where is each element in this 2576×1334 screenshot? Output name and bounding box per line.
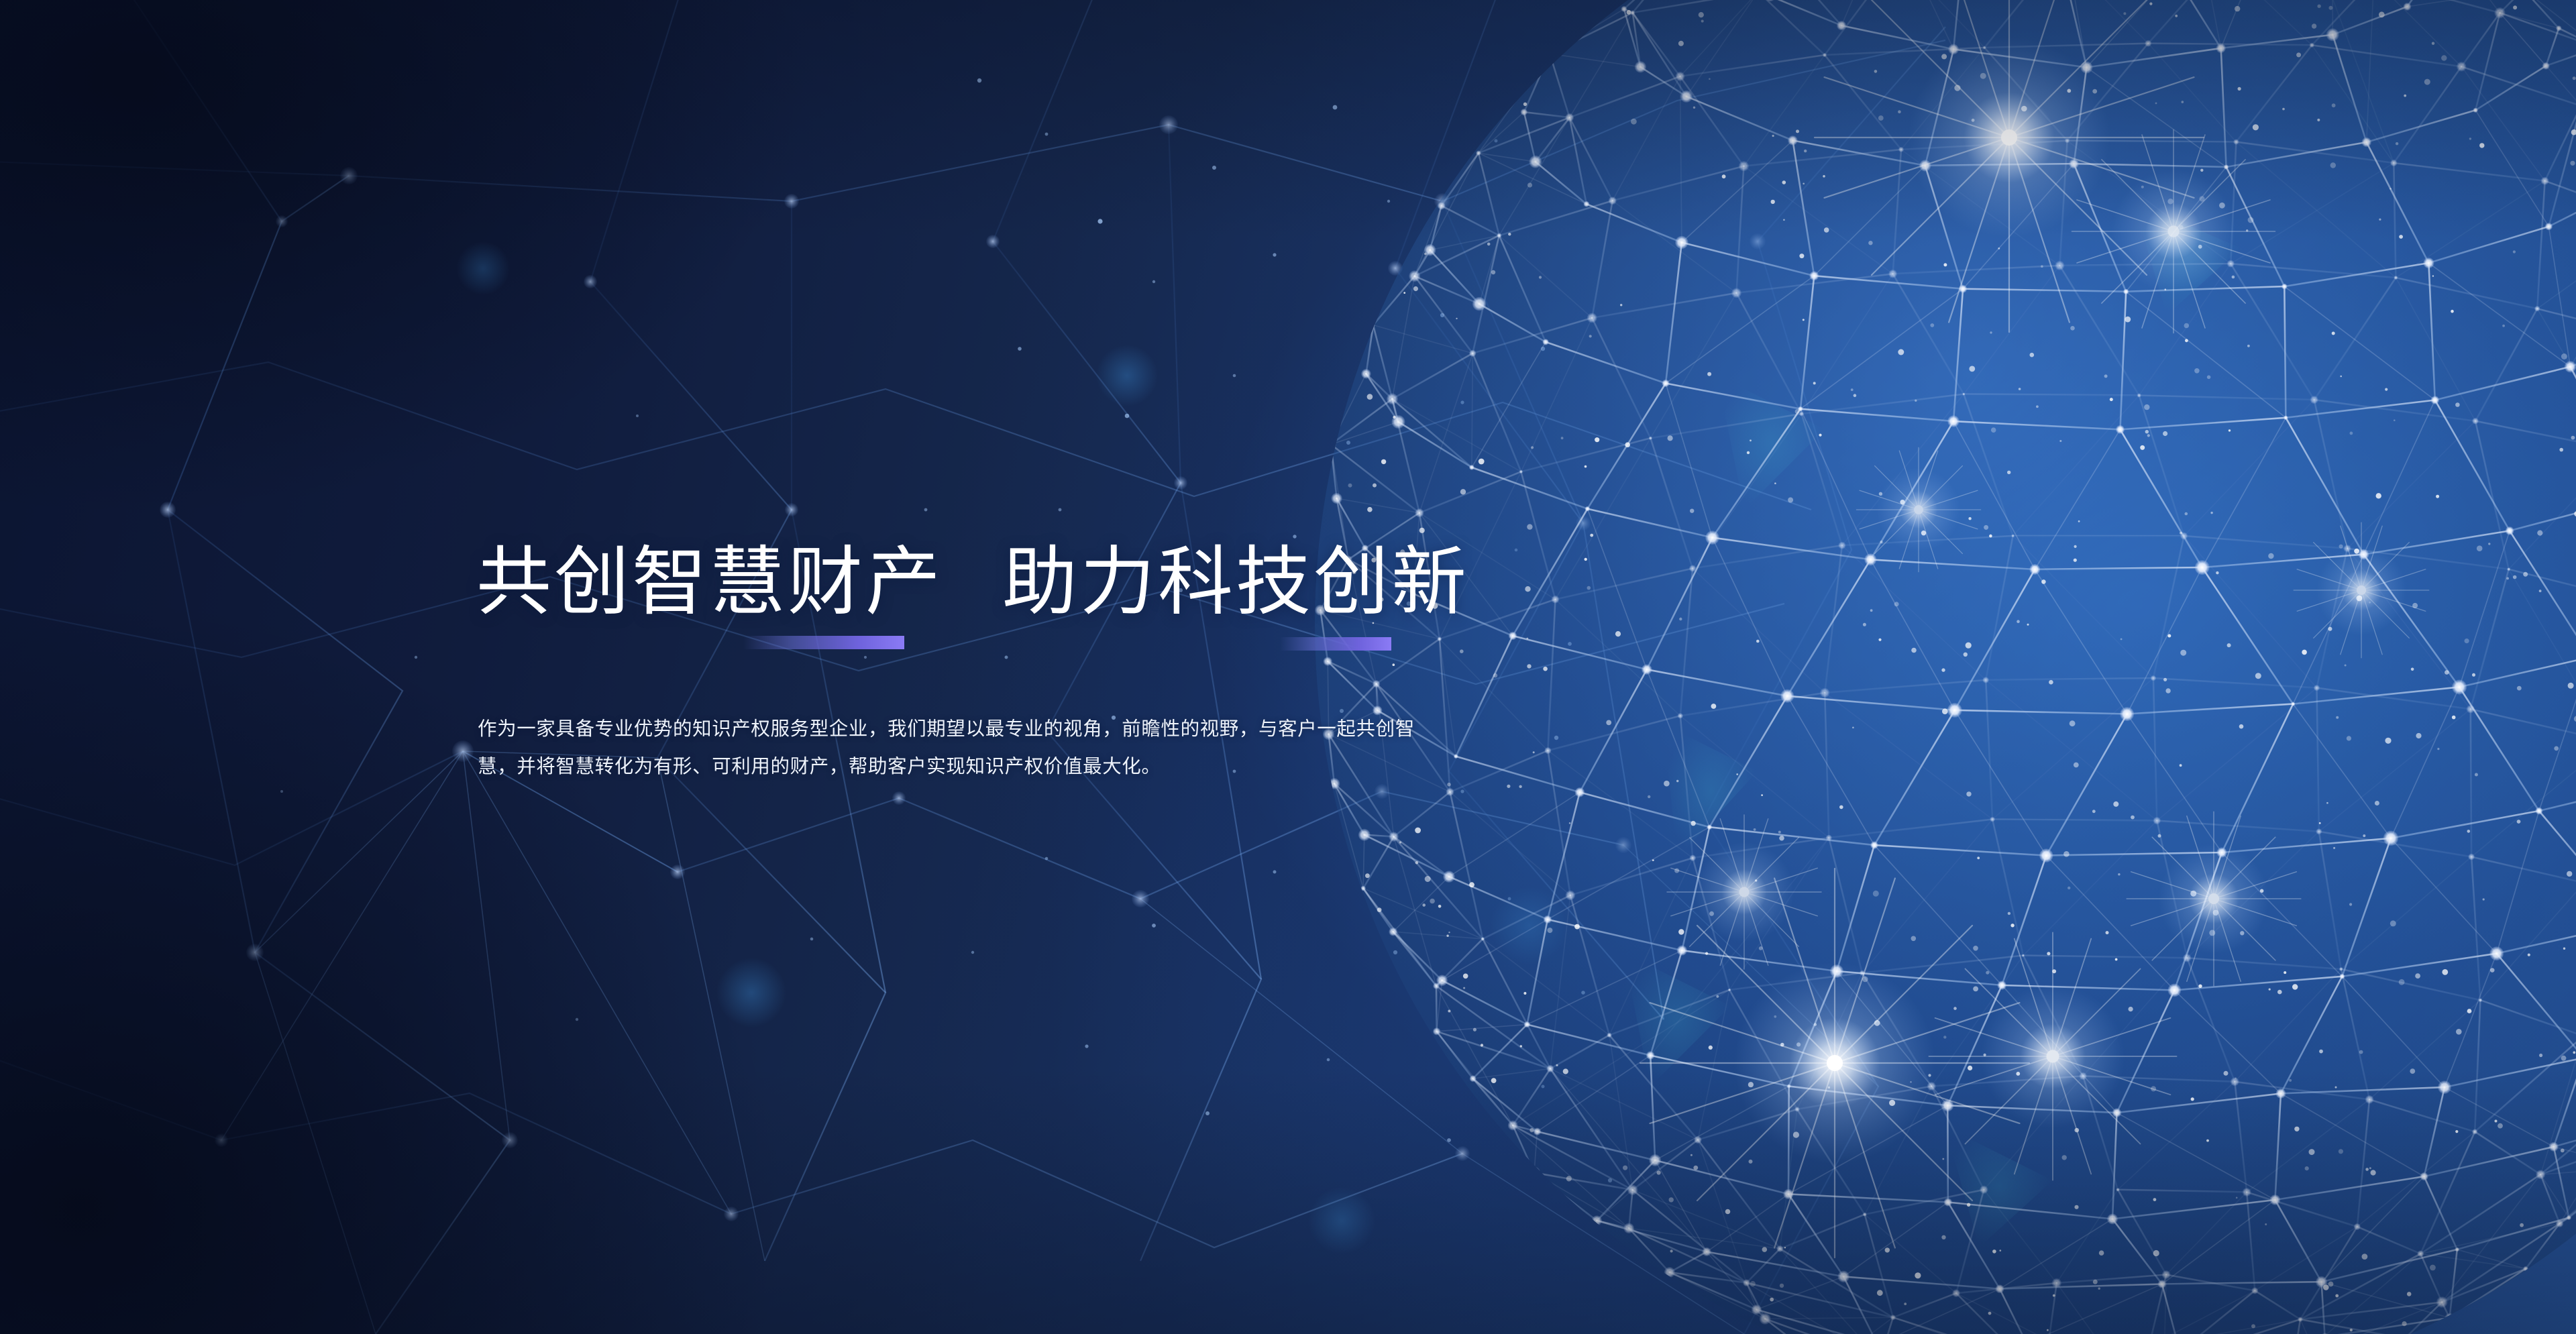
page-title: 共创智慧财产助力科技创新 bbox=[476, 545, 1469, 620]
headline-part-2: 助力科技创新 bbox=[1002, 540, 1469, 624]
banner-content: 共创智慧财产助力科技创新 作为一家具备专业优势的知识产权服务型企业，我们期望以最… bbox=[0, 0, 2576, 1334]
accent-underline-2 bbox=[1280, 637, 1391, 651]
banner-description: 作为一家具备专业优势的知识产权服务型企业，我们期望以最专业的视角，前瞻性的视野，… bbox=[478, 710, 1437, 785]
hero-banner: 共创智慧财产助力科技创新 作为一家具备专业优势的知识产权服务型企业，我们期望以最… bbox=[0, 0, 2576, 1334]
headline-part-1: 共创智慧财产 bbox=[476, 540, 943, 624]
accent-underline-1 bbox=[743, 636, 904, 649]
